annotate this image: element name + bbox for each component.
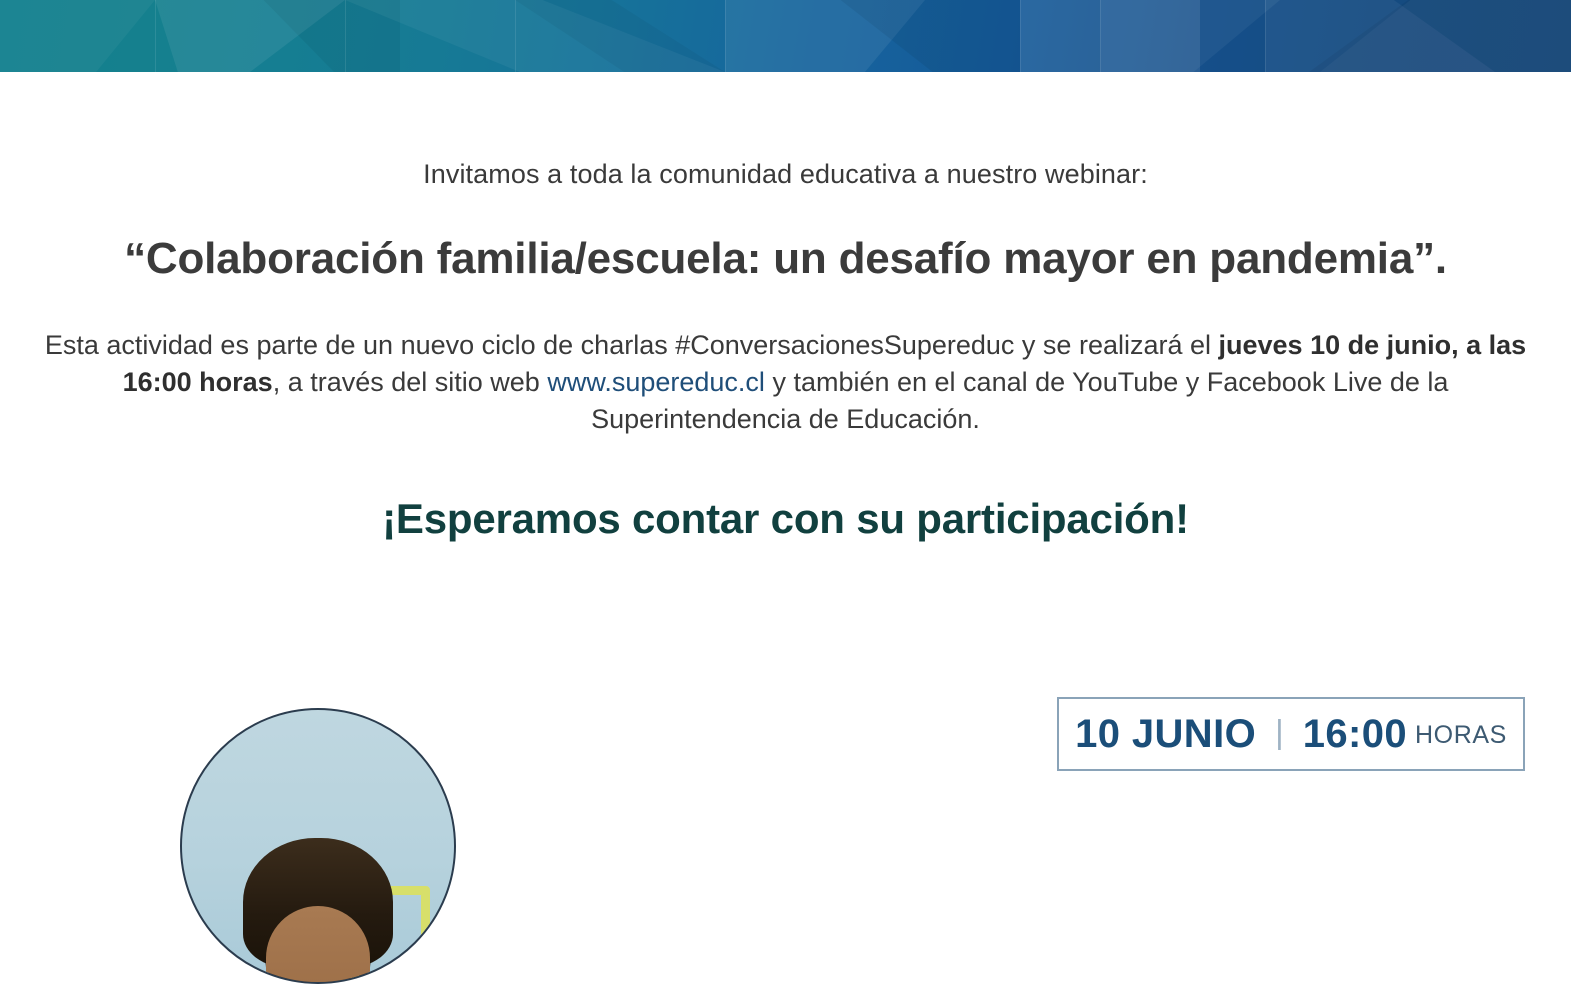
banner-seam-3 — [515, 0, 516, 72]
banner-seam-4 — [725, 0, 726, 72]
page-title: “Colaboración familia/escuela: un desafí… — [0, 190, 1571, 285]
avatar — [180, 708, 456, 984]
banner-seam-6 — [1100, 0, 1101, 72]
banner-facet-1 — [0, 0, 155, 72]
body-paragraph: Esta actividad es parte de un nuevo cicl… — [21, 285, 1551, 439]
badge-time-unit: HORAS — [1415, 721, 1507, 750]
main-content: Invitamos a toda la comunidad educativa … — [0, 72, 1571, 543]
banner-facet-9 — [1100, 0, 1280, 72]
banner-seam-2 — [345, 0, 346, 72]
body-part-2: , a través del sitio web — [273, 367, 548, 397]
banner-seam-5 — [1020, 0, 1021, 72]
call-to-action-line: ¡Esperamos contar con su participación! — [0, 439, 1571, 543]
badge-separator: | — [1275, 713, 1284, 751]
banner-seam-1 — [155, 0, 156, 72]
supereduc-website-link[interactable]: www.supereduc.cl — [547, 367, 765, 397]
badge-date: 10 JUNIO — [1075, 712, 1256, 757]
badge-time: 16:00 — [1303, 712, 1407, 757]
body-part-1: Esta actividad es parte de un nuevo cicl… — [45, 330, 1219, 360]
date-time-badge: 10 JUNIO | 16:00 HORAS — [1057, 697, 1525, 771]
header-banner — [0, 0, 1571, 72]
banner-seam-7 — [1265, 0, 1266, 72]
intro-line: Invitamos a toda la comunidad educativa … — [0, 72, 1571, 190]
